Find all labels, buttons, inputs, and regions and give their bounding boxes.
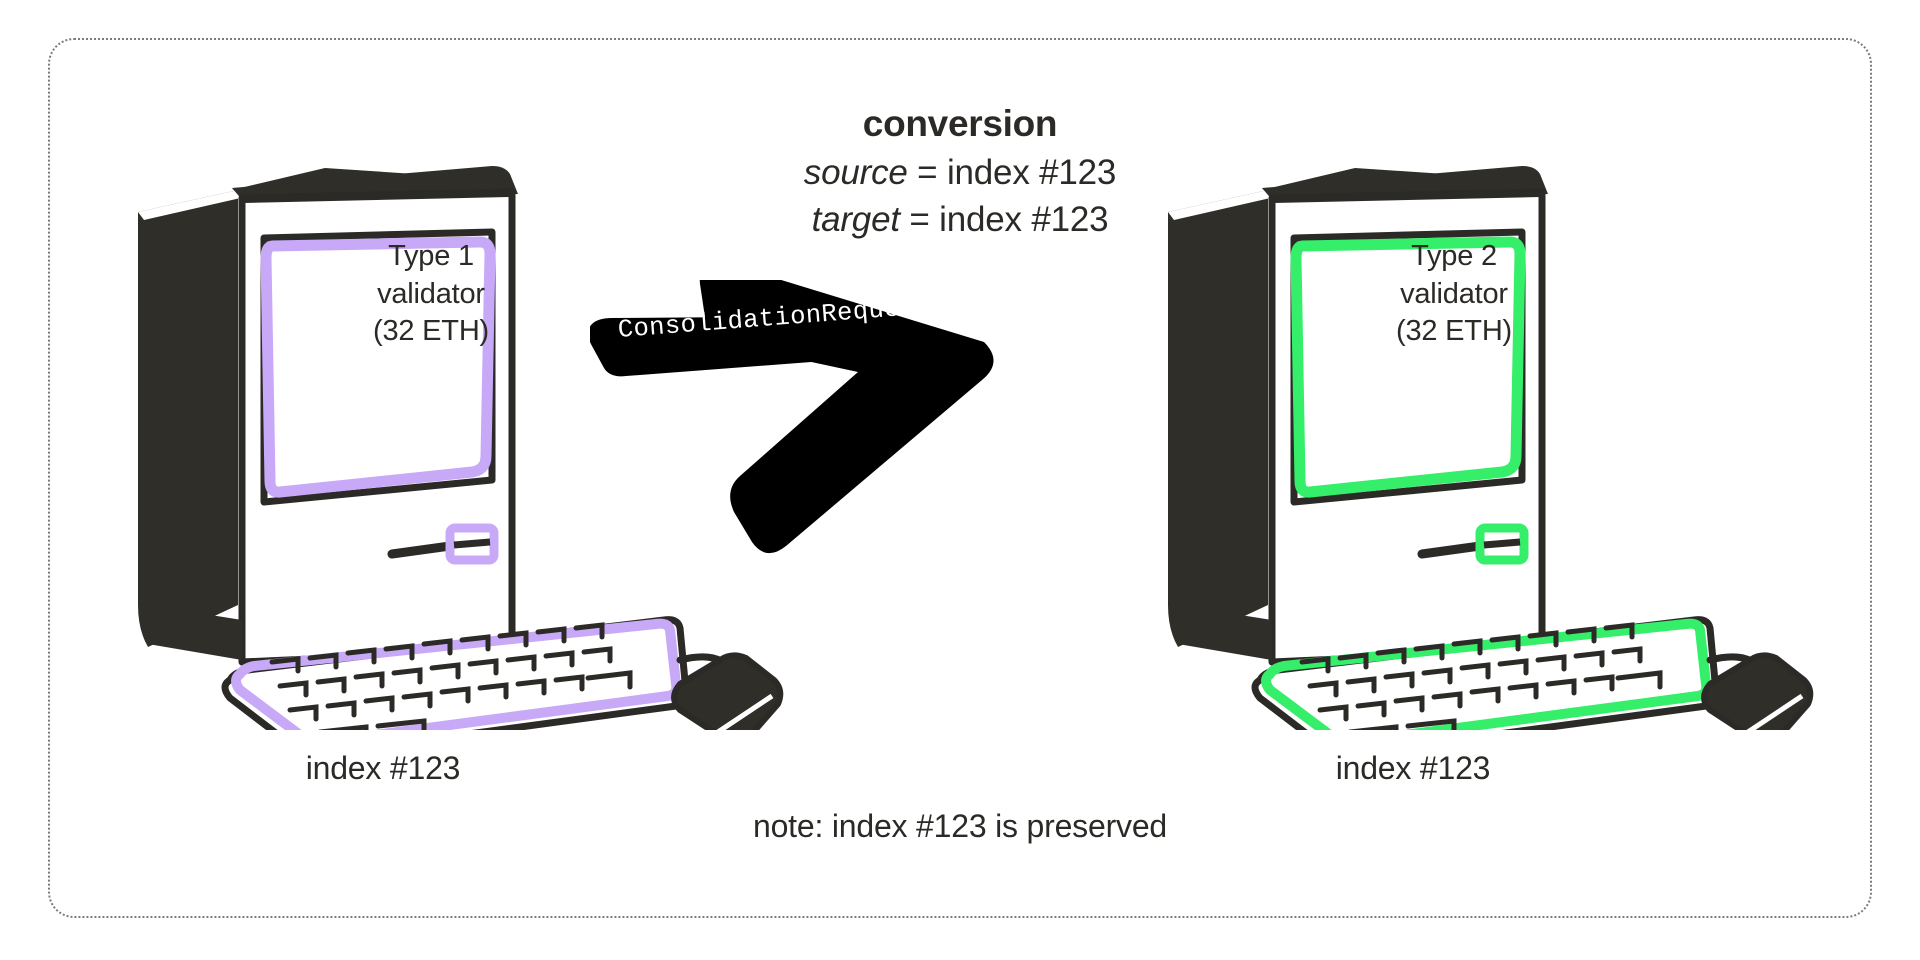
diagram-canvas: conversion source = index #123 target = … [0,0,1920,960]
caption-target-value: = index #123 [900,200,1109,239]
right-validator-computer: Type 2 validator (32 ETH) [1150,150,1850,730]
caption-source-value: = index #123 [908,153,1117,192]
index-label-left: index #123 [133,750,633,787]
mouse-left [674,655,780,730]
arrow-icon [590,280,1020,570]
screen-accent-right [1296,242,1520,492]
computer-illustration-right [1150,150,1850,730]
caption-title: conversion [660,100,1260,147]
footer-note: note: index #123 is preserved [460,808,1460,845]
mouse-right [1704,655,1810,730]
caption-target-key: target [812,200,900,239]
consolidation-arrow-group: ConsolidationRequest [590,280,1020,570]
screen-accent-left [266,242,490,492]
index-label-right: index #123 [1163,750,1663,787]
computer-body-right [1168,166,1810,730]
